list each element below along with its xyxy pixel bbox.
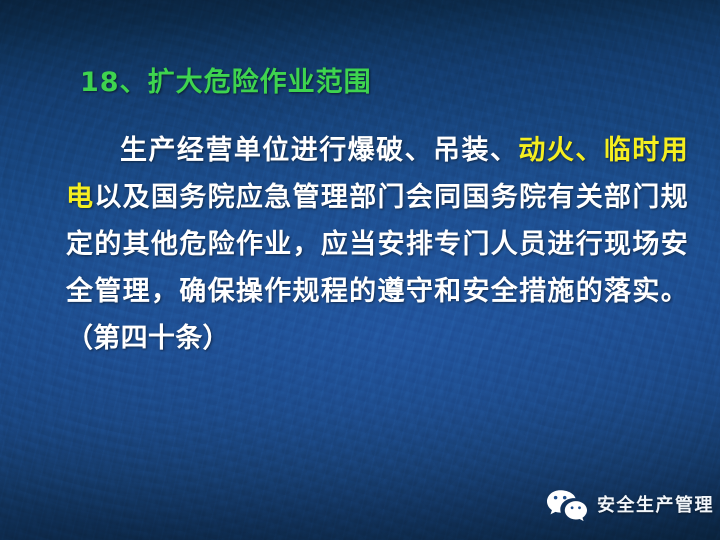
wechat-icon xyxy=(546,489,588,523)
body-segment-plain-2: 以及国务院应急管理部门会同国务院有关部门规定的其他危险作业，应当安排专门人员进行… xyxy=(66,182,688,354)
watermark-label: 安全生产管理 xyxy=(597,497,714,515)
body-paragraph: 生产经营单位进行爆破、吊装、动火、临时用电以及国务院应急管理部门会同国务院有关部… xyxy=(66,127,688,362)
slide-title: 18、扩大危险作业范围 xyxy=(80,68,372,98)
body-segment-plain-1: 生产经营单位进行爆破、吊装、 xyxy=(120,135,518,166)
slide-body: 生产经营单位进行爆破、吊装、动火、临时用电以及国务院应急管理部门会同国务院有关部… xyxy=(66,127,688,362)
slide-canvas: 18、扩大危险作业范围 生产经营单位进行爆破、吊装、动火、临时用电以及国务院应急… xyxy=(0,0,720,540)
watermark: 安全生产管理 xyxy=(546,489,714,523)
